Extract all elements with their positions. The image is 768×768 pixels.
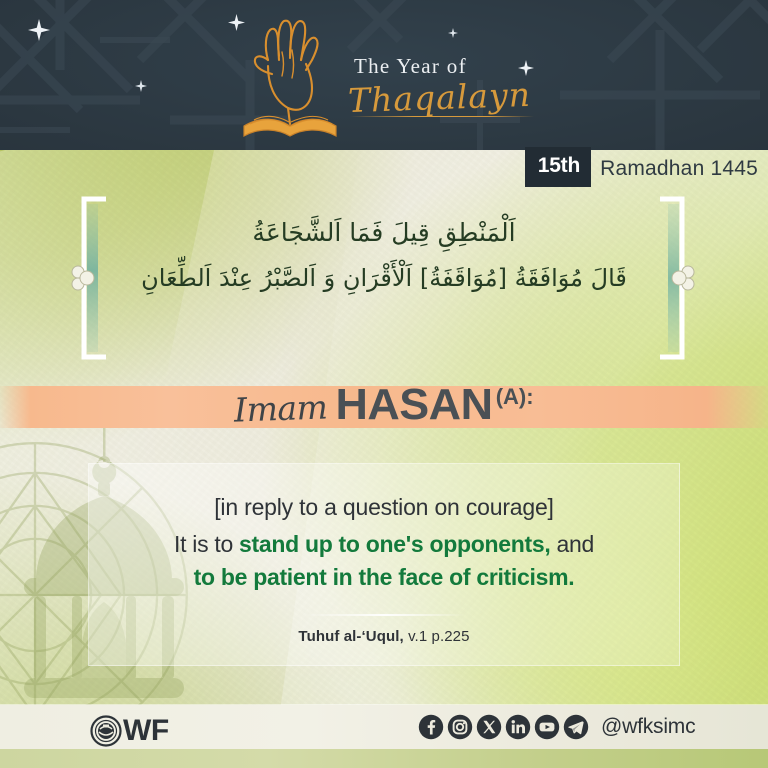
arabic-line-2: قَالَ مُوَافَقَةُ [مُوَاقَفَةُ] اَلْأَقْ… <box>120 256 648 300</box>
quote-line-2: to be patient in the face of criticism. <box>194 564 575 591</box>
social-handle[interactable]: @wfksimc <box>601 715 695 739</box>
arabic-quote-block: اَلْمَنْطِقِ قِيلَ فَمَا اَلشَّجَاعَةُ ق… <box>0 196 768 368</box>
bracket-ornament-icon <box>652 196 698 360</box>
facebook-icon[interactable] <box>418 714 444 740</box>
poster-canvas: The Year of Thaqalayn 15th Ramadhan 1445 <box>0 0 768 768</box>
youtube-icon[interactable] <box>534 714 560 740</box>
citation-locator: v.1 p.225 <box>404 628 470 645</box>
wf-logo[interactable]: WF <box>90 714 169 748</box>
brand-line-thaqalayn: Thaqalayn <box>347 75 531 120</box>
arabic-lines: اَلْمَنْطِقِ قِيلَ فَمَا اَلشَّجَاعَةُ ق… <box>120 210 648 301</box>
linkedin-icon[interactable] <box>505 714 531 740</box>
quote-intro: [in reply to a question on courage] <box>214 494 554 521</box>
brand-line-the-year-of: The Year of <box>354 54 467 79</box>
quote-line-1: It is to stand up to one's opponents, an… <box>174 531 594 558</box>
speaker-name: Imam HASAN (A): <box>0 372 768 438</box>
quote-card: [in reply to a question on courage] It i… <box>88 463 680 666</box>
quote-line-2-bold: to be patient in the face of criticism. <box>194 564 575 590</box>
date-day: 15th <box>525 147 591 187</box>
quote-line-1-plain-end: and <box>550 531 594 557</box>
brand-underline <box>350 116 534 117</box>
quote-citation: Tuhuf al-‘Uqul, v.1 p.225 <box>298 628 469 645</box>
four-pointed-star-icon <box>28 19 50 41</box>
speaker-prefix: Imam <box>234 387 329 429</box>
quote-divider <box>303 614 465 616</box>
date-badge: 15th Ramadhan 1445 <box>525 151 768 187</box>
bracket-ornament-icon <box>68 196 114 360</box>
telegram-icon[interactable] <box>563 714 589 740</box>
wf-logo-text: WF <box>123 714 169 748</box>
brand-lockup: The Year of Thaqalayn <box>236 8 536 148</box>
speaker-name-text: HASAN <box>335 380 492 430</box>
x-twitter-icon[interactable] <box>476 714 502 740</box>
four-pointed-star-icon <box>135 80 147 92</box>
quote-line-1-bold: stand up to one's opponents, <box>239 531 550 557</box>
arabic-line-1: اَلْمَنْطِقِ قِيلَ فَمَا اَلشَّجَاعَةُ <box>120 210 648 256</box>
speaker-honorific: (A): <box>496 384 534 410</box>
wf-seal-icon <box>90 715 122 747</box>
citation-source: Tuhuf al-‘Uqul, <box>298 628 403 645</box>
instagram-icon[interactable] <box>447 714 473 740</box>
header-banner: The Year of Thaqalayn <box>0 0 768 150</box>
social-links: @wfksimc <box>418 714 695 740</box>
quote-line-1-plain-start: It is to <box>174 531 239 557</box>
date-month-year: Ramadhan 1445 <box>591 151 768 187</box>
footer-bottom-strip <box>0 749 768 768</box>
